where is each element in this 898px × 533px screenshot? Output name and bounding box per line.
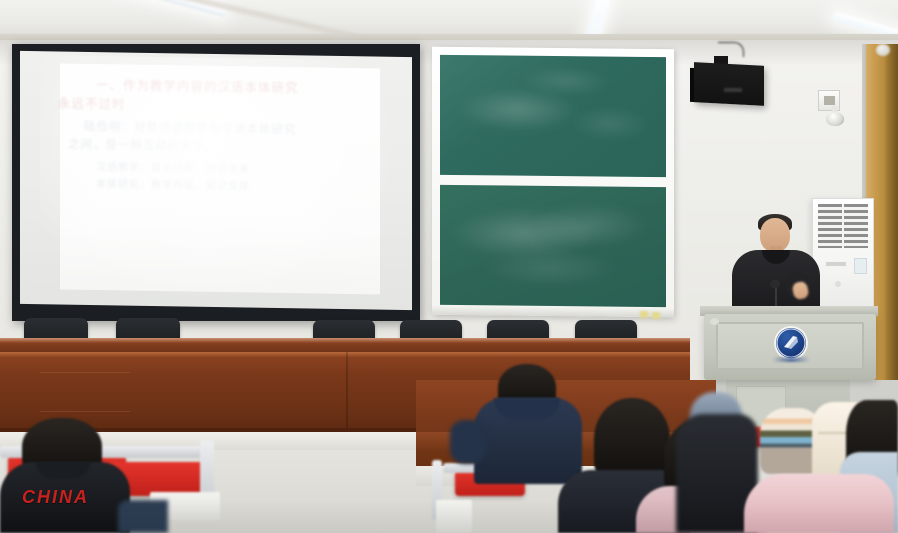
audience-desk <box>436 500 472 533</box>
jacket-text-china: CHINA <box>22 487 89 508</box>
chalk-piece-2[interactable] <box>652 312 660 319</box>
student-front-left-collar <box>36 462 90 478</box>
speaker-badge <box>724 88 742 92</box>
air-conditioner-label <box>826 262 846 266</box>
slide-body-line-2: 之间，是一种互动的关系。 <box>68 136 362 159</box>
wall-mounted-speaker <box>694 62 764 106</box>
air-conditioner-led-icon <box>835 281 841 287</box>
lecture-hall-photo: 一、作为教学内容的汉语本体研究 永远不过时 陆俭明：对外汉语教学与汉语本体研究 … <box>0 0 898 533</box>
dome-security-camera-icon <box>826 112 844 126</box>
student-right-pink-2 <box>744 474 894 533</box>
head-table-trim <box>0 352 690 357</box>
presentation-slide: 一、作为教学内容的汉语本体研究 永远不过时 陆俭明：对外汉语教学与汉语本体研究 … <box>62 76 362 231</box>
air-conditioner-display[interactable] <box>854 258 867 274</box>
speaker-cable <box>718 42 744 57</box>
lectern-knob[interactable] <box>710 318 719 325</box>
chalk-piece-1[interactable] <box>640 311 648 318</box>
head-table-seam <box>346 352 348 432</box>
chalkboard-upper-panel <box>440 55 666 177</box>
slide-heading-line-2: 永远不过时 <box>58 95 362 119</box>
student-left-sleeve <box>118 500 168 533</box>
head-table-highlight <box>0 338 690 343</box>
slide-sub-line-2: 本体研究：教学内容、知识支撑 <box>96 176 362 197</box>
student-center-shoulder <box>450 420 486 464</box>
microphone-icon <box>770 280 780 288</box>
university-emblem-icon <box>776 328 806 358</box>
university-emblem-text <box>772 357 810 362</box>
wall-control-panel-face <box>824 96 835 105</box>
door-edge <box>888 44 898 380</box>
ceiling-hook <box>876 44 890 56</box>
air-conditioner-vent-divider <box>842 204 844 248</box>
chalkboard-lower-panel <box>440 185 666 309</box>
